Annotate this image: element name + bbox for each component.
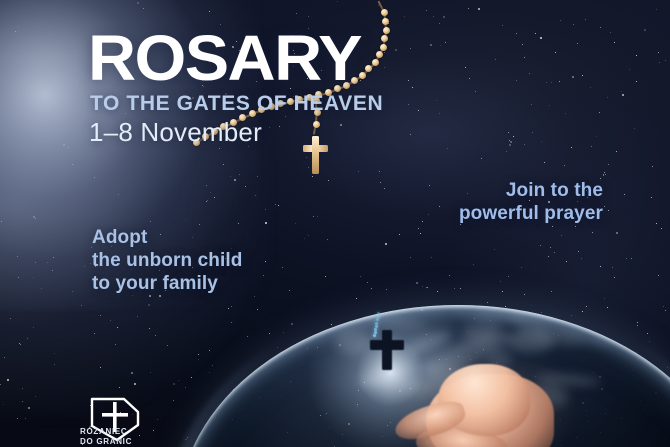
crucifix-post: [312, 136, 319, 174]
page-subtitle: TO THE GATES OF HEAVEN: [90, 93, 383, 115]
logo-name-line-2: DO GRANIC: [80, 437, 132, 447]
page-title: ROSARY: [88, 26, 361, 90]
slogan-adopt-child: Adopt the unborn child to your family: [92, 226, 242, 295]
unborn-child-figure: [392, 362, 592, 447]
slogan-join-prayer: Join to the powerful prayer: [403, 179, 603, 225]
logo-name-line-1: RÓŻANIEC: [80, 427, 132, 437]
poster-canvas: ROSARY TO THE GATES OF HEAVEN 1–8 Novemb…: [0, 0, 670, 447]
slogan-adopt-line-1: Adopt: [92, 226, 242, 249]
crucifix-icon: [302, 136, 328, 174]
logo-wordmark: RÓŻANIEC DO GRANIC: [80, 427, 132, 446]
slogan-adopt-line-3: to your family: [92, 272, 242, 295]
slogan-adopt-line-2: the unborn child: [92, 249, 242, 272]
event-dates: 1–8 November: [89, 118, 262, 146]
slogan-join-line-2: powerful prayer: [403, 202, 603, 225]
slogan-join-line-1: Join to the: [403, 179, 603, 202]
